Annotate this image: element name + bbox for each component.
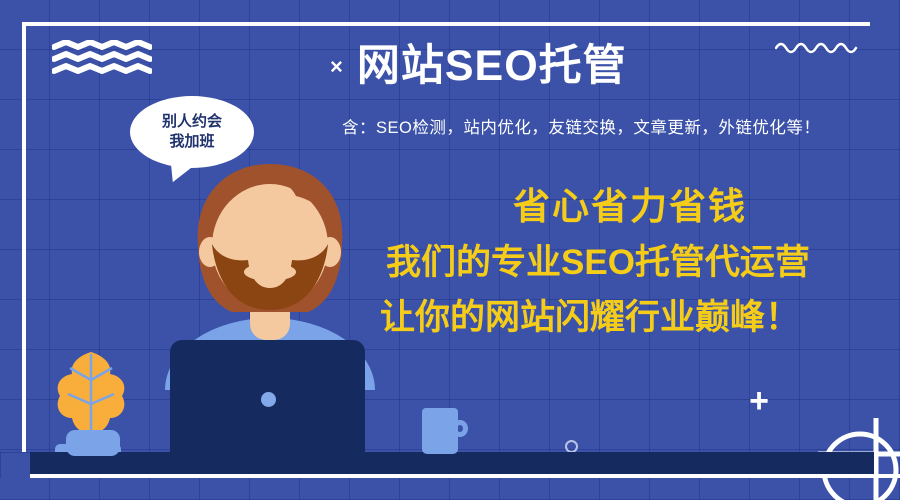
- pitch-line-1: 省心省力省钱: [380, 188, 880, 225]
- mug-handle: [452, 420, 468, 437]
- laptop-logo-icon: [261, 392, 276, 407]
- banner-subtitle: 含：SEO检测，站内优化，友链交换，文章更新，外链优化等！: [342, 114, 820, 138]
- title-x-icon: ×: [330, 56, 343, 78]
- pitch-line-2: 我们的专业SEO托管代运营: [380, 245, 880, 280]
- page-title: 网站SEO托管: [357, 44, 627, 89]
- pitch-line-3: 让你的网站闪耀行业巅峰！: [380, 300, 880, 335]
- plant-illustration: [52, 350, 130, 454]
- speech-bubble: 别人约会 我加班: [130, 96, 254, 168]
- person-mouth: [244, 263, 296, 281]
- wave-top-right-icon: [775, 38, 860, 54]
- laptop-illustration: [170, 340, 365, 458]
- speech-bubble-line-2: 我加班: [169, 132, 214, 152]
- seo-banner: × 网站SEO托管 含：SEO检测，站内优化，友链交换，文章更新，外链优化等！ …: [0, 0, 900, 500]
- plant-leaf-icon: [52, 350, 130, 436]
- coffee-mug-illustration: [422, 408, 468, 454]
- desk-surface: [26, 452, 874, 474]
- plant-pot: [66, 430, 120, 456]
- plus-icon: +: [745, 388, 773, 416]
- speech-bubble-line-1: 别人约会: [162, 112, 222, 132]
- banner-title-row: × 网站SEO托管: [330, 44, 627, 89]
- wave-top-left-icon: [52, 40, 152, 78]
- desk-left-mask: [0, 452, 30, 478]
- pitch-block: 省心省力省钱 我们的专业SEO托管代运营 让你的网站闪耀行业巅峰！: [380, 188, 880, 335]
- desk-edge-line: [26, 474, 900, 478]
